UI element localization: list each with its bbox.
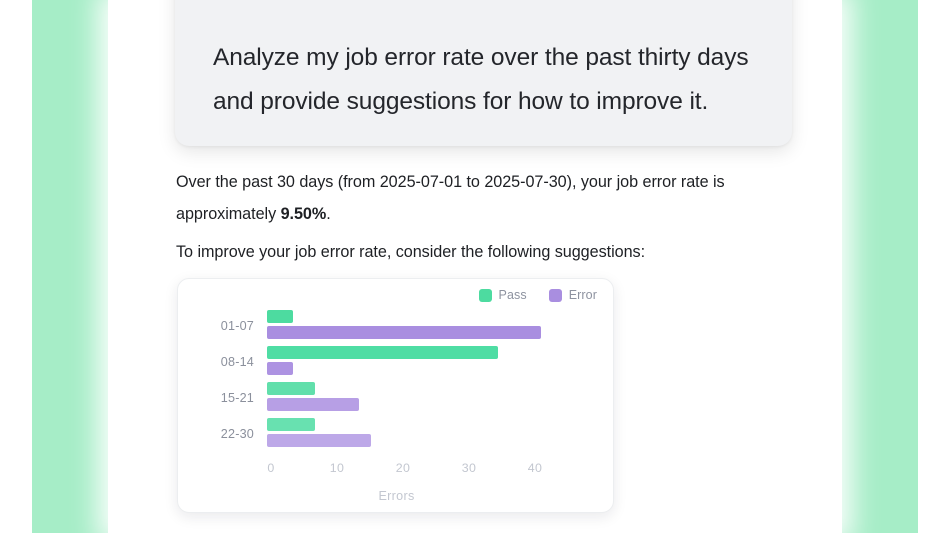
chart-x-axis-title: Errors <box>178 489 615 503</box>
legend-label-pass: Pass <box>499 288 527 302</box>
chart-row: 01-07 <box>178 307 615 347</box>
response-paragraph-1-lead: Over the past 30 days (from 2025-07-01 t… <box>176 173 725 223</box>
chart-bar-pass[interactable] <box>267 418 315 431</box>
user-prompt-text: Analyze my job error rate over the past … <box>213 36 758 124</box>
chart-category-label: 08-14 <box>178 355 254 369</box>
legend-swatch-pass <box>479 289 492 302</box>
chart-bar-pass[interactable] <box>267 310 293 323</box>
legend-label-error: Error <box>569 288 597 302</box>
chart-x-tick: 40 <box>528 461 542 475</box>
chart-category-label: 22-30 <box>178 427 254 441</box>
response-paragraph-1: Over the past 30 days (from 2025-07-01 t… <box>176 166 776 230</box>
chart-x-tick: 0 <box>267 461 274 475</box>
chart-x-tick: 20 <box>396 461 410 475</box>
chart-bar-error[interactable] <box>267 398 359 411</box>
chart-bar-pass[interactable] <box>267 382 315 395</box>
legend-item-error[interactable]: Error <box>549 288 597 302</box>
user-prompt-card: Analyze my job error rate over the past … <box>175 0 792 146</box>
response-paragraph-1-tail: . <box>326 205 330 223</box>
chart-legend: Pass Error <box>479 288 597 302</box>
chart-bar-error[interactable] <box>267 434 371 447</box>
chart-plot-area: 01-0708-1415-2122-30 <box>178 307 615 467</box>
decorative-band-left <box>32 0 108 533</box>
legend-item-pass[interactable]: Pass <box>479 288 527 302</box>
error-rate-value: 9.50% <box>281 205 327 223</box>
chart-bar-error[interactable] <box>267 326 541 339</box>
chart-x-axis: 010203040 <box>178 461 615 481</box>
chart-card: Pass Error 01-0708-1415-2122-30 01020304… <box>177 278 614 513</box>
chart-bar-error[interactable] <box>267 362 293 375</box>
chart-bar-pass[interactable] <box>267 346 498 359</box>
chart-row: 08-14 <box>178 343 615 383</box>
chart-category-label: 15-21 <box>178 391 254 405</box>
assistant-response: Over the past 30 days (from 2025-07-01 t… <box>176 166 776 278</box>
chart-x-tick: 10 <box>330 461 344 475</box>
chart-row: 15-21 <box>178 379 615 419</box>
chart-row: 22-30 <box>178 415 615 455</box>
decorative-band-right <box>842 0 918 533</box>
legend-swatch-error <box>549 289 562 302</box>
chart-category-label: 01-07 <box>178 319 254 333</box>
response-paragraph-2: To improve your job error rate, consider… <box>176 236 776 268</box>
chart-x-tick: 30 <box>462 461 476 475</box>
